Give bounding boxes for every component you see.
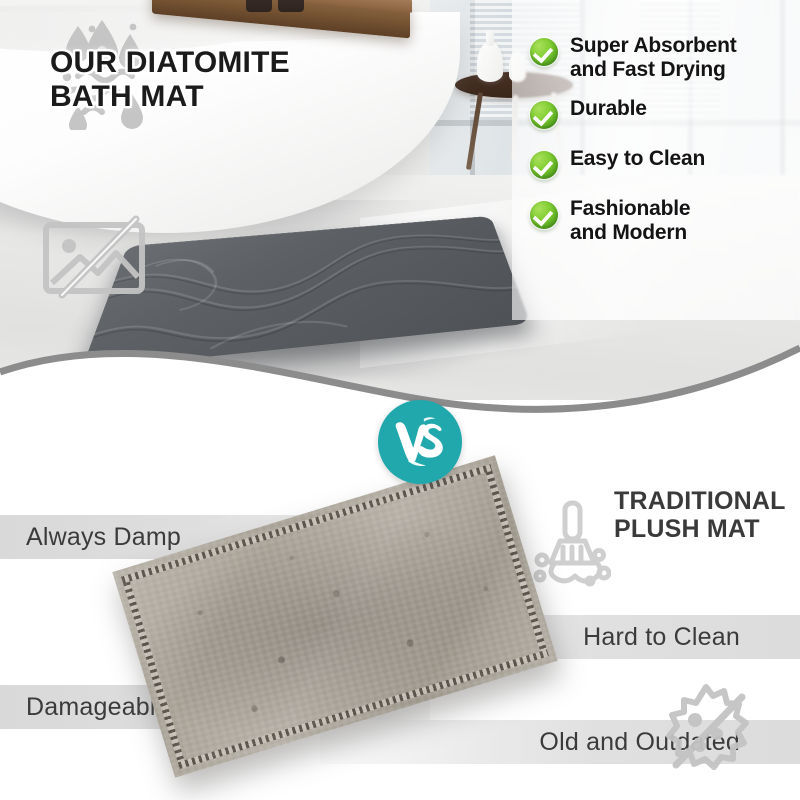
feature-item-durable: Durable (530, 97, 800, 129)
section-title-line1: TRADITIONAL (614, 487, 786, 515)
label-hard-to-clean: Hard to Clean (583, 623, 740, 652)
feature-label: Super Absorbent (570, 34, 737, 57)
traditional-plush-mat-photo (135, 487, 575, 777)
toiletry-bottle (246, 0, 272, 12)
section-title-line2: PLUSH MAT (614, 515, 760, 543)
vs-text-icon (389, 411, 451, 473)
green-check-icon (530, 101, 558, 129)
feature-label-line2: and Fast Drying (570, 58, 726, 81)
white-vase-neck (486, 30, 494, 46)
feature-label-line2: and Modern (570, 221, 687, 244)
broken-image-icon (40, 215, 150, 301)
page-title: OUR DIATOMITE BATH MAT (50, 46, 290, 114)
white-vase (477, 42, 503, 82)
vs-badge (378, 400, 462, 484)
section-title-traditional-plush-mat: TRADITIONAL PLUSH MAT (614, 487, 786, 543)
green-check-icon (530, 151, 558, 179)
feature-label: Fashionable (570, 197, 690, 220)
infographic-canvas: Super Absorbent and Fast Drying Durable … (0, 0, 800, 800)
feature-item-fashionable-modern: Fashionable and Modern (530, 197, 800, 244)
toiletry-bottle (278, 0, 304, 12)
feature-item-super-absorbent: Super Absorbent and Fast Drying (530, 34, 800, 81)
green-check-icon (530, 38, 558, 66)
feature-list: Super Absorbent and Fast Drying Durable … (530, 34, 800, 260)
feature-label: Easy to Clean (570, 147, 705, 171)
green-check-icon (530, 201, 558, 229)
page-title-line1: OUR DIATOMITE (50, 46, 290, 79)
germ-icon (658, 683, 754, 779)
feature-label: Durable (570, 97, 647, 121)
page-title-line2: BATH MAT (50, 80, 204, 113)
feature-item-easy-to-clean: Easy to Clean (530, 147, 800, 179)
